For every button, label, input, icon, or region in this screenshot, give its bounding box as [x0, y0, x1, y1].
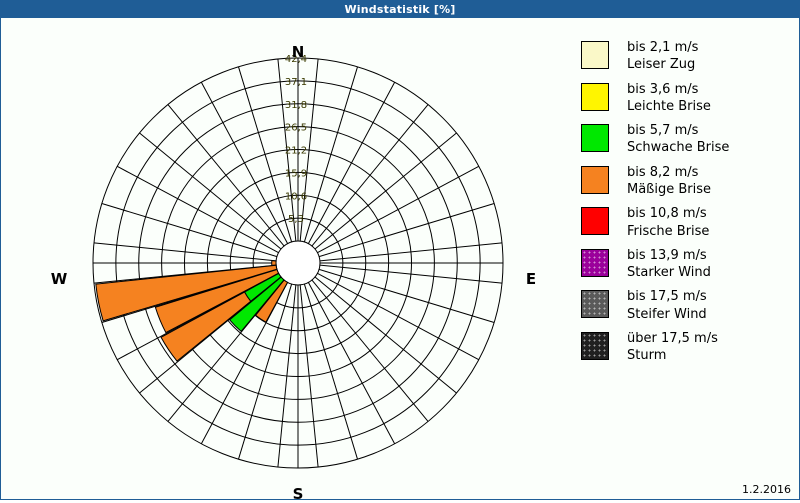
compass-label-east: E	[501, 270, 561, 288]
legend-item-text: bis 10,8 m/sFrische Brise	[627, 205, 709, 240]
window-titlebar: Windstatistik [%]	[0, 0, 800, 18]
legend-item-speed: über 17,5 m/s	[627, 331, 718, 346]
legend-item[interactable]: bis 10,8 m/sFrische Brise	[581, 205, 796, 240]
legend-swatch-maessige-brise	[581, 166, 609, 194]
legend: bis 2,1 m/sLeiser Zugbis 3,6 m/sLeichte …	[581, 39, 796, 372]
legend-item-name: Mäßige Brise	[627, 181, 711, 198]
legend-item-text: bis 8,2 m/sMäßige Brise	[627, 164, 711, 199]
window-title: Windstatistik [%]	[344, 3, 455, 16]
legend-item-name: Starker Wind	[627, 264, 711, 281]
legend-item-text: bis 5,7 m/sSchwache Brise	[627, 122, 729, 157]
legend-item-speed: bis 2,1 m/s	[627, 40, 698, 55]
grid-spoke	[102, 203, 277, 256]
windrose-plot-area: 5,310,615,921,226,531,837,142,4 N S W E	[1, 19, 561, 500]
legend-item[interactable]: bis 17,5 m/sSteifer Wind	[581, 288, 796, 323]
legend-item-name: Schwache Brise	[627, 139, 729, 156]
grid-spoke	[238, 67, 291, 242]
legend-swatch-starker-wind	[581, 249, 609, 277]
legend-swatch-frische-brise	[581, 207, 609, 235]
legend-item[interactable]: bis 3,6 m/sLeichte Brise	[581, 81, 796, 116]
legend-item-text: bis 17,5 m/sSteifer Wind	[627, 288, 707, 323]
radial-tick-label: 15,9	[285, 168, 307, 179]
radial-tick-label: 37,1	[285, 77, 307, 88]
radial-tick-label: 26,5	[285, 123, 307, 134]
windrose-petals	[96, 261, 288, 362]
grid-spoke	[319, 203, 494, 256]
legend-item-speed: bis 17,5 m/s	[627, 289, 707, 304]
legend-item-speed: bis 13,9 m/s	[627, 248, 707, 263]
radial-tick-label: 21,2	[285, 146, 307, 157]
radial-tick-label: 5,3	[288, 214, 304, 225]
radial-tick-label: 31,8	[285, 100, 307, 111]
radial-tick-labels: 5,310,615,921,226,531,837,142,4	[285, 54, 307, 225]
grid-spoke	[304, 284, 357, 459]
grid-spoke	[304, 67, 357, 242]
legend-item[interactable]: bis 13,9 m/sStarker Wind	[581, 247, 796, 282]
legend-item[interactable]: über 17,5 m/sSturm	[581, 330, 796, 365]
legend-item-name: Leichte Brise	[627, 98, 711, 115]
legend-swatch-leiser-zug	[581, 41, 609, 69]
legend-item[interactable]: bis 8,2 m/sMäßige Brise	[581, 164, 796, 199]
windstatistik-window: Windstatistik [%] 5,310,615,921,226,531,…	[0, 0, 800, 500]
legend-item-text: bis 2,1 m/sLeiser Zug	[627, 39, 698, 74]
legend-item-name: Steifer Wind	[627, 306, 707, 323]
compass-label-north: N	[268, 43, 328, 61]
date-stamp: 1.2.2016	[742, 483, 791, 496]
compass-label-west: W	[29, 270, 89, 288]
legend-item-speed: bis 5,7 m/s	[627, 123, 698, 138]
legend-item-text: bis 3,6 m/sLeichte Brise	[627, 81, 711, 116]
legend-item-name: Leiser Zug	[627, 56, 698, 73]
legend-swatch-sturm	[581, 332, 609, 360]
compass-label-south: S	[268, 485, 328, 503]
legend-swatch-leichte-brise	[581, 83, 609, 111]
grid-spoke	[319, 269, 494, 322]
windrose-chart: 5,310,615,921,226,531,837,142,4	[1, 19, 561, 500]
legend-item-text: bis 13,9 m/sStarker Wind	[627, 247, 711, 282]
legend-item[interactable]: bis 2,1 m/sLeiser Zug	[581, 39, 796, 74]
legend-swatch-steifer-wind	[581, 290, 609, 318]
legend-item-name: Frische Brise	[627, 223, 709, 240]
legend-item[interactable]: bis 5,7 m/sSchwache Brise	[581, 122, 796, 157]
windrose-grid	[93, 58, 503, 468]
legend-item-speed: bis 3,6 m/s	[627, 82, 698, 97]
legend-item-speed: bis 10,8 m/s	[627, 206, 707, 221]
windrose-petal-segment	[272, 261, 276, 266]
legend-swatch-schwache-brise	[581, 124, 609, 152]
legend-item-text: über 17,5 m/sSturm	[627, 330, 718, 365]
legend-item-name: Sturm	[627, 347, 718, 364]
legend-item-speed: bis 8,2 m/s	[627, 165, 698, 180]
radial-tick-label: 10,6	[285, 191, 307, 202]
